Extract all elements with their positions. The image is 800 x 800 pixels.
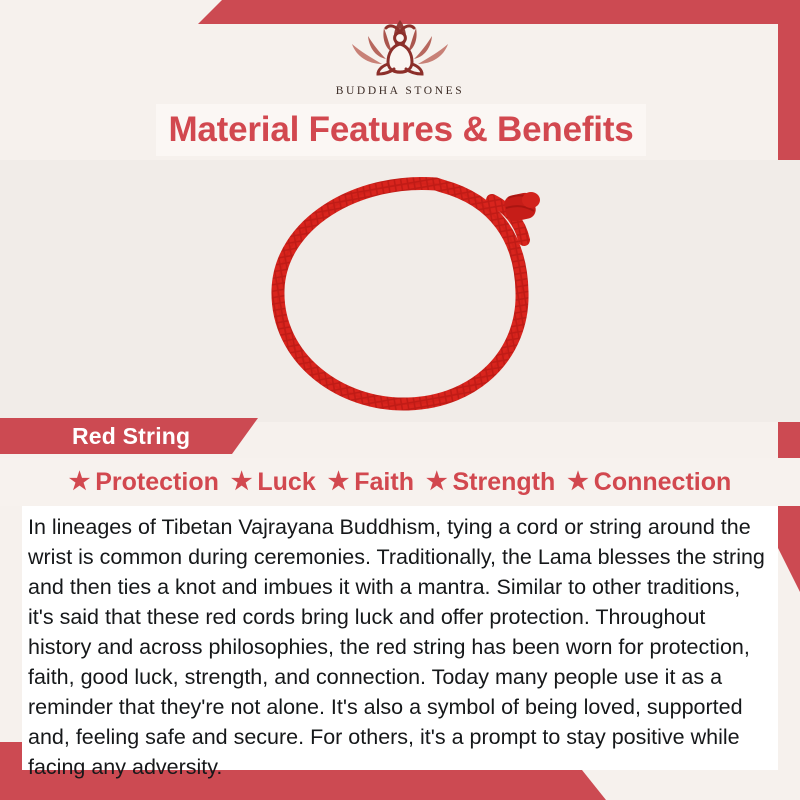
- star-icon: ★: [426, 470, 448, 494]
- feature-item-2: ★ Faith: [328, 468, 414, 497]
- feature-item-4: ★ Connection: [567, 468, 731, 497]
- feature-item-1: ★ Luck: [231, 468, 316, 497]
- feature-label-protection: Protection: [95, 468, 219, 497]
- feature-label-faith: Faith: [354, 468, 414, 497]
- brand-header: BUDDHA STONES: [0, 0, 800, 104]
- description-text: In lineages of Tibetan Vajrayana Buddhis…: [28, 512, 766, 782]
- page-title-panel: Material Features & Benefits: [156, 104, 646, 156]
- star-icon: ★: [231, 470, 253, 494]
- star-icon: ★: [69, 470, 91, 494]
- feature-item-0: ★ Protection: [69, 468, 219, 497]
- feature-label-strength: Strength: [452, 468, 555, 497]
- lotus-meditation-icon: [315, 12, 485, 84]
- page-title: Material Features & Benefits: [168, 110, 633, 150]
- decorative-bottom-left-edge: [0, 742, 22, 800]
- feature-label-connection: Connection: [594, 468, 732, 497]
- feature-label-luck: Luck: [257, 468, 315, 497]
- star-icon: ★: [567, 470, 589, 494]
- brand-logo: BUDDHA STONES: [315, 12, 485, 97]
- product-name-banner: Red String: [0, 418, 258, 454]
- features-row: ★ Protection ★ Luck ★ Faith ★ Strength ★…: [0, 458, 800, 506]
- infographic-page: BUDDHA STONES Material Features & Benefi…: [0, 0, 800, 800]
- product-name: Red String: [72, 423, 190, 450]
- feature-item-3: ★ Strength: [426, 468, 555, 497]
- brand-name: BUDDHA STONES: [315, 85, 485, 97]
- product-image-area: [0, 160, 800, 422]
- description-panel: In lineages of Tibetan Vajrayana Buddhis…: [22, 506, 778, 770]
- star-icon: ★: [328, 470, 350, 494]
